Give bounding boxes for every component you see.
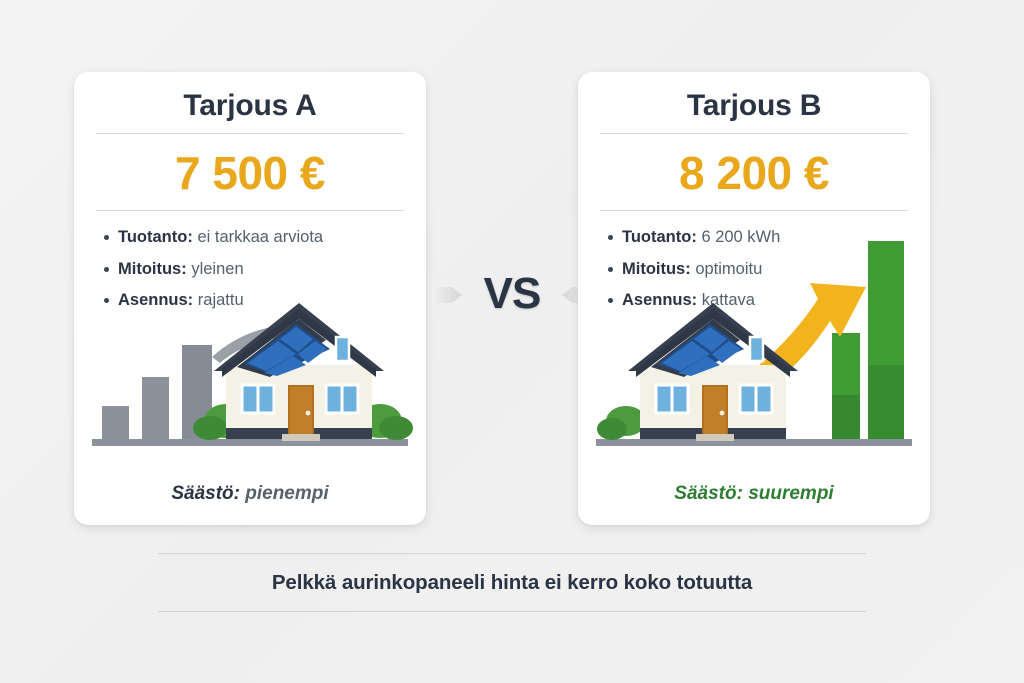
footer-caption-block: Pelkkä aurinkopaneeli hinta ei kerro kok… [158, 553, 866, 612]
bar-gray-1 [102, 406, 129, 439]
saving-label: Säästö: [674, 483, 743, 504]
offer-b-divider-top [600, 133, 908, 134]
versus-label: VS [484, 269, 541, 319]
poster-canvas: Tarjous A 7 500 € Tuotanto: ei tarkkaa a… [0, 0, 1024, 683]
offer-b-illustration [578, 225, 930, 473]
offer-a-title: Tarjous A [74, 89, 426, 123]
bush-left-2 [193, 416, 227, 440]
bar-green-1-shade [832, 395, 860, 441]
versus-badge: VS [430, 258, 594, 330]
offer-a-illustration [74, 225, 426, 473]
footer-rule-bottom [158, 611, 866, 612]
offer-card-a[interactable]: Tarjous A 7 500 € Tuotanto: ei tarkkaa a… [74, 72, 426, 525]
bar-green-2-shade [868, 365, 904, 441]
offer-a-saving: Säästö: pienempi [74, 483, 426, 505]
offer-a-divider-top [96, 133, 404, 134]
bush-right-2 [379, 416, 413, 440]
offer-card-b[interactable]: Tarjous B 8 200 € Tuotanto: 6 200 kWh Mi… [578, 72, 930, 525]
house-illustration [628, 303, 798, 441]
offer-a-price: 7 500 € [74, 146, 426, 200]
house-illustration [214, 303, 384, 441]
ground-line [92, 439, 408, 446]
saving-value: pienempi [245, 483, 328, 504]
offer-a-divider-bottom [96, 210, 404, 211]
arrow-left-icon [432, 287, 462, 303]
offer-b-title: Tarjous B [578, 89, 930, 123]
saving-value: suurempi [748, 483, 834, 504]
footer-caption: Pelkkä aurinkopaneeli hinta ei kerro kok… [158, 554, 866, 611]
bar-gray-2 [142, 377, 169, 439]
offer-b-price: 8 200 € [578, 146, 930, 200]
offer-b-divider-bottom [600, 210, 908, 211]
bush-left-2 [597, 418, 627, 440]
ground-line [596, 439, 912, 446]
offer-b-saving: Säästö: suurempi [578, 483, 930, 505]
saving-label: Säästö: [171, 483, 240, 504]
